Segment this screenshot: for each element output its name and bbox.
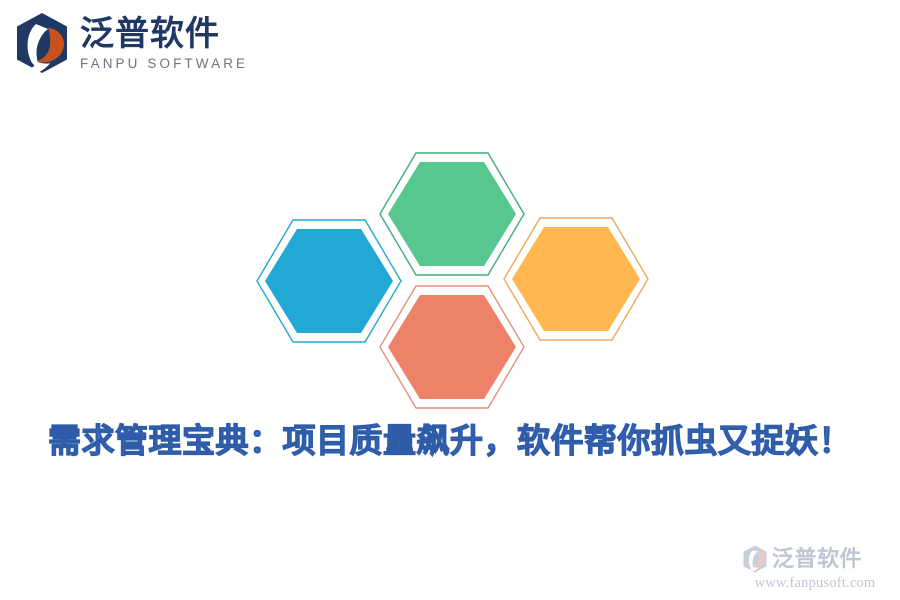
- salmon-hexagon: [375, 281, 529, 413]
- watermark-brand-name: 泛普软件: [772, 547, 862, 571]
- brand-logo[interactable]: 泛普软件 FANPU SOFTWARE: [14, 12, 248, 74]
- green-hexagon: [375, 148, 529, 280]
- brand-name-en: FANPU SOFTWARE: [80, 55, 248, 73]
- brand-wordmark: 泛普软件 FANPU SOFTWARE: [80, 14, 248, 72]
- watermark-url: www.fanpusoft.com: [742, 574, 888, 592]
- orange-hexagon: [499, 213, 653, 345]
- fanpu-hexagon-swoosh-logo-icon: [14, 12, 70, 74]
- brand-name-cn: 泛普软件: [80, 16, 248, 53]
- blue-hexagon: [252, 215, 406, 347]
- page-title: 需求管理宝典：项目质量飙升，软件帮你抓虫又捉妖！: [0, 414, 900, 462]
- hexagon-cluster: [0, 0, 900, 600]
- watermark: 泛普软件 www.fanpusoft.com: [742, 545, 888, 592]
- banner-canvas: 泛普软件 FANPU SOFTWARE: [0, 0, 900, 600]
- fanpu-watermark-logo-icon: [742, 545, 768, 573]
- watermark-brand-row: 泛普软件: [742, 545, 888, 573]
